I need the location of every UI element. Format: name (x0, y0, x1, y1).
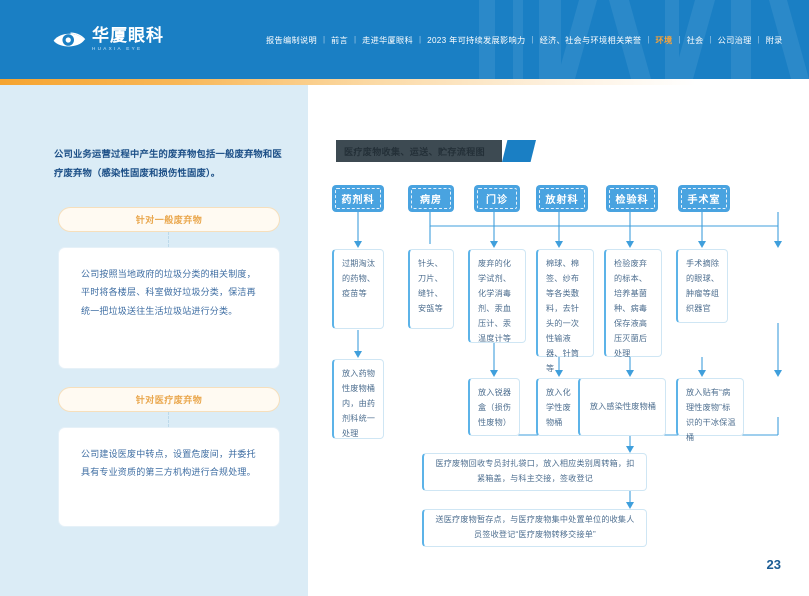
logo-text-en: HUAXIA EYE (92, 47, 164, 52)
waste-box-0: 过期淘汰的药物、疫苗等 (332, 249, 384, 329)
waste-box-3: 棉球、棉签、纱布等各类敷料，去针头的一次性输液器、针筒等 (536, 249, 594, 357)
dept-label-1: 病房 (420, 191, 442, 206)
main-navigation[interactable]: 报告编制说明|前言|走进华厦眼科|2023 年可持续发展影响力|经济、社会与环境… (260, 34, 789, 46)
dept-box-1: 病房 (408, 185, 454, 212)
chart-title-text: 医疗废物收集、运送、贮存流程图 (344, 140, 485, 162)
dept-box-4: 检验科 (606, 185, 658, 212)
dept-box-3: 放射科 (536, 185, 588, 212)
container-box-0: 放入药物性废物桶内，由药剂科统一处理 (332, 359, 384, 439)
connector-line-1 (168, 232, 169, 247)
nav-item-1[interactable]: 前言 (325, 34, 354, 46)
process-step-1: 送医疗废物暂存点，与医疗废物集中处置单位的收集人员签收登记“医疗废物转移交接单” (422, 509, 647, 547)
container-box-4: 放入贴有“病理性废物”标识的干冰保温桶 (676, 378, 744, 436)
pill-medical-waste: 针对医疗废弃物 (58, 387, 280, 412)
logo-text-cn: 华厦眼科 (92, 27, 164, 44)
pill-general-waste: 针对一般废弃物 (58, 207, 280, 232)
nav-item-8[interactable]: 附录 (760, 34, 789, 46)
chart-title: 医疗废物收集、运送、贮存流程图 (336, 140, 536, 162)
dept-label-2: 门诊 (486, 191, 508, 206)
waste-box-4: 检验废弃的标本、培养基菌种、病毒保存液高压灭菌后处理 (604, 249, 662, 357)
site-header: 华厦眼科 HUAXIA EYE 报告编制说明|前言|走进华厦眼科|2023 年可… (0, 0, 809, 79)
dept-label-3: 放射科 (546, 191, 579, 206)
chart-title-slant-accent (502, 140, 536, 162)
container-box-3: 放入感染性废物桶 (578, 378, 666, 436)
nav-item-3[interactable]: 2023 年可持续发展影响力 (421, 34, 531, 46)
left-panel: 公司业务运营过程中产生的废弃物包括一般废弃物和医疗废弃物（感染性固废和损伤性固废… (0, 85, 308, 596)
connector-line-2 (168, 412, 169, 427)
nav-item-5[interactable]: 环境 (650, 34, 679, 46)
dept-label-0: 药剂科 (342, 191, 375, 206)
general-waste-text: 公司按照当地政府的垃圾分类的相关制度，平时将各楼层、科室做好垃圾分类，保洁再统一… (58, 247, 280, 369)
dept-box-5: 手术室 (678, 185, 730, 212)
container-box-1: 放入锐器盒（损伤性废物） (468, 378, 520, 436)
dept-box-0: 药剂科 (332, 185, 384, 212)
waste-box-1: 针头、刀片、缝针、安瓿等 (408, 249, 454, 329)
nav-item-0[interactable]: 报告编制说明 (260, 34, 323, 46)
company-logo[interactable]: 华厦眼科 HUAXIA EYE (52, 27, 164, 52)
medical-waste-text: 公司建设医废中转点，设置危废间，并委托具有专业资质的第三方机构进行合规处理。 (58, 427, 280, 527)
nav-item-2[interactable]: 走进华厦眼科 (356, 34, 419, 46)
nav-item-7[interactable]: 公司治理 (712, 34, 758, 46)
intro-paragraph: 公司业务运营过程中产生的废弃物包括一般废弃物和医疗废弃物（感染性固废和损伤性固废… (54, 145, 286, 182)
nav-item-4[interactable]: 经济、社会与环境相关荣誉 (534, 34, 648, 46)
waste-box-2: 废弃的化学试剂、化学消毒剂、汞血压计、汞温度计等 (468, 249, 526, 343)
flowchart-area: 医疗废物收集、运送、贮存流程图 (308, 85, 809, 596)
waste-box-5: 手术摘除的眼球、肿瘤等组织器官 (676, 249, 728, 323)
nav-item-6[interactable]: 社会 (681, 34, 710, 46)
dept-box-2: 门诊 (474, 185, 520, 212)
page-number: 23 (767, 557, 781, 572)
process-step-0: 医疗废物回收专员封扎袋口，放入相应类别周转箱，扣紧箱盖，与科主交接，签收登记 (422, 453, 647, 491)
dept-label-4: 检验科 (616, 191, 649, 206)
dept-label-5: 手术室 (688, 191, 721, 206)
eye-icon (52, 30, 86, 50)
